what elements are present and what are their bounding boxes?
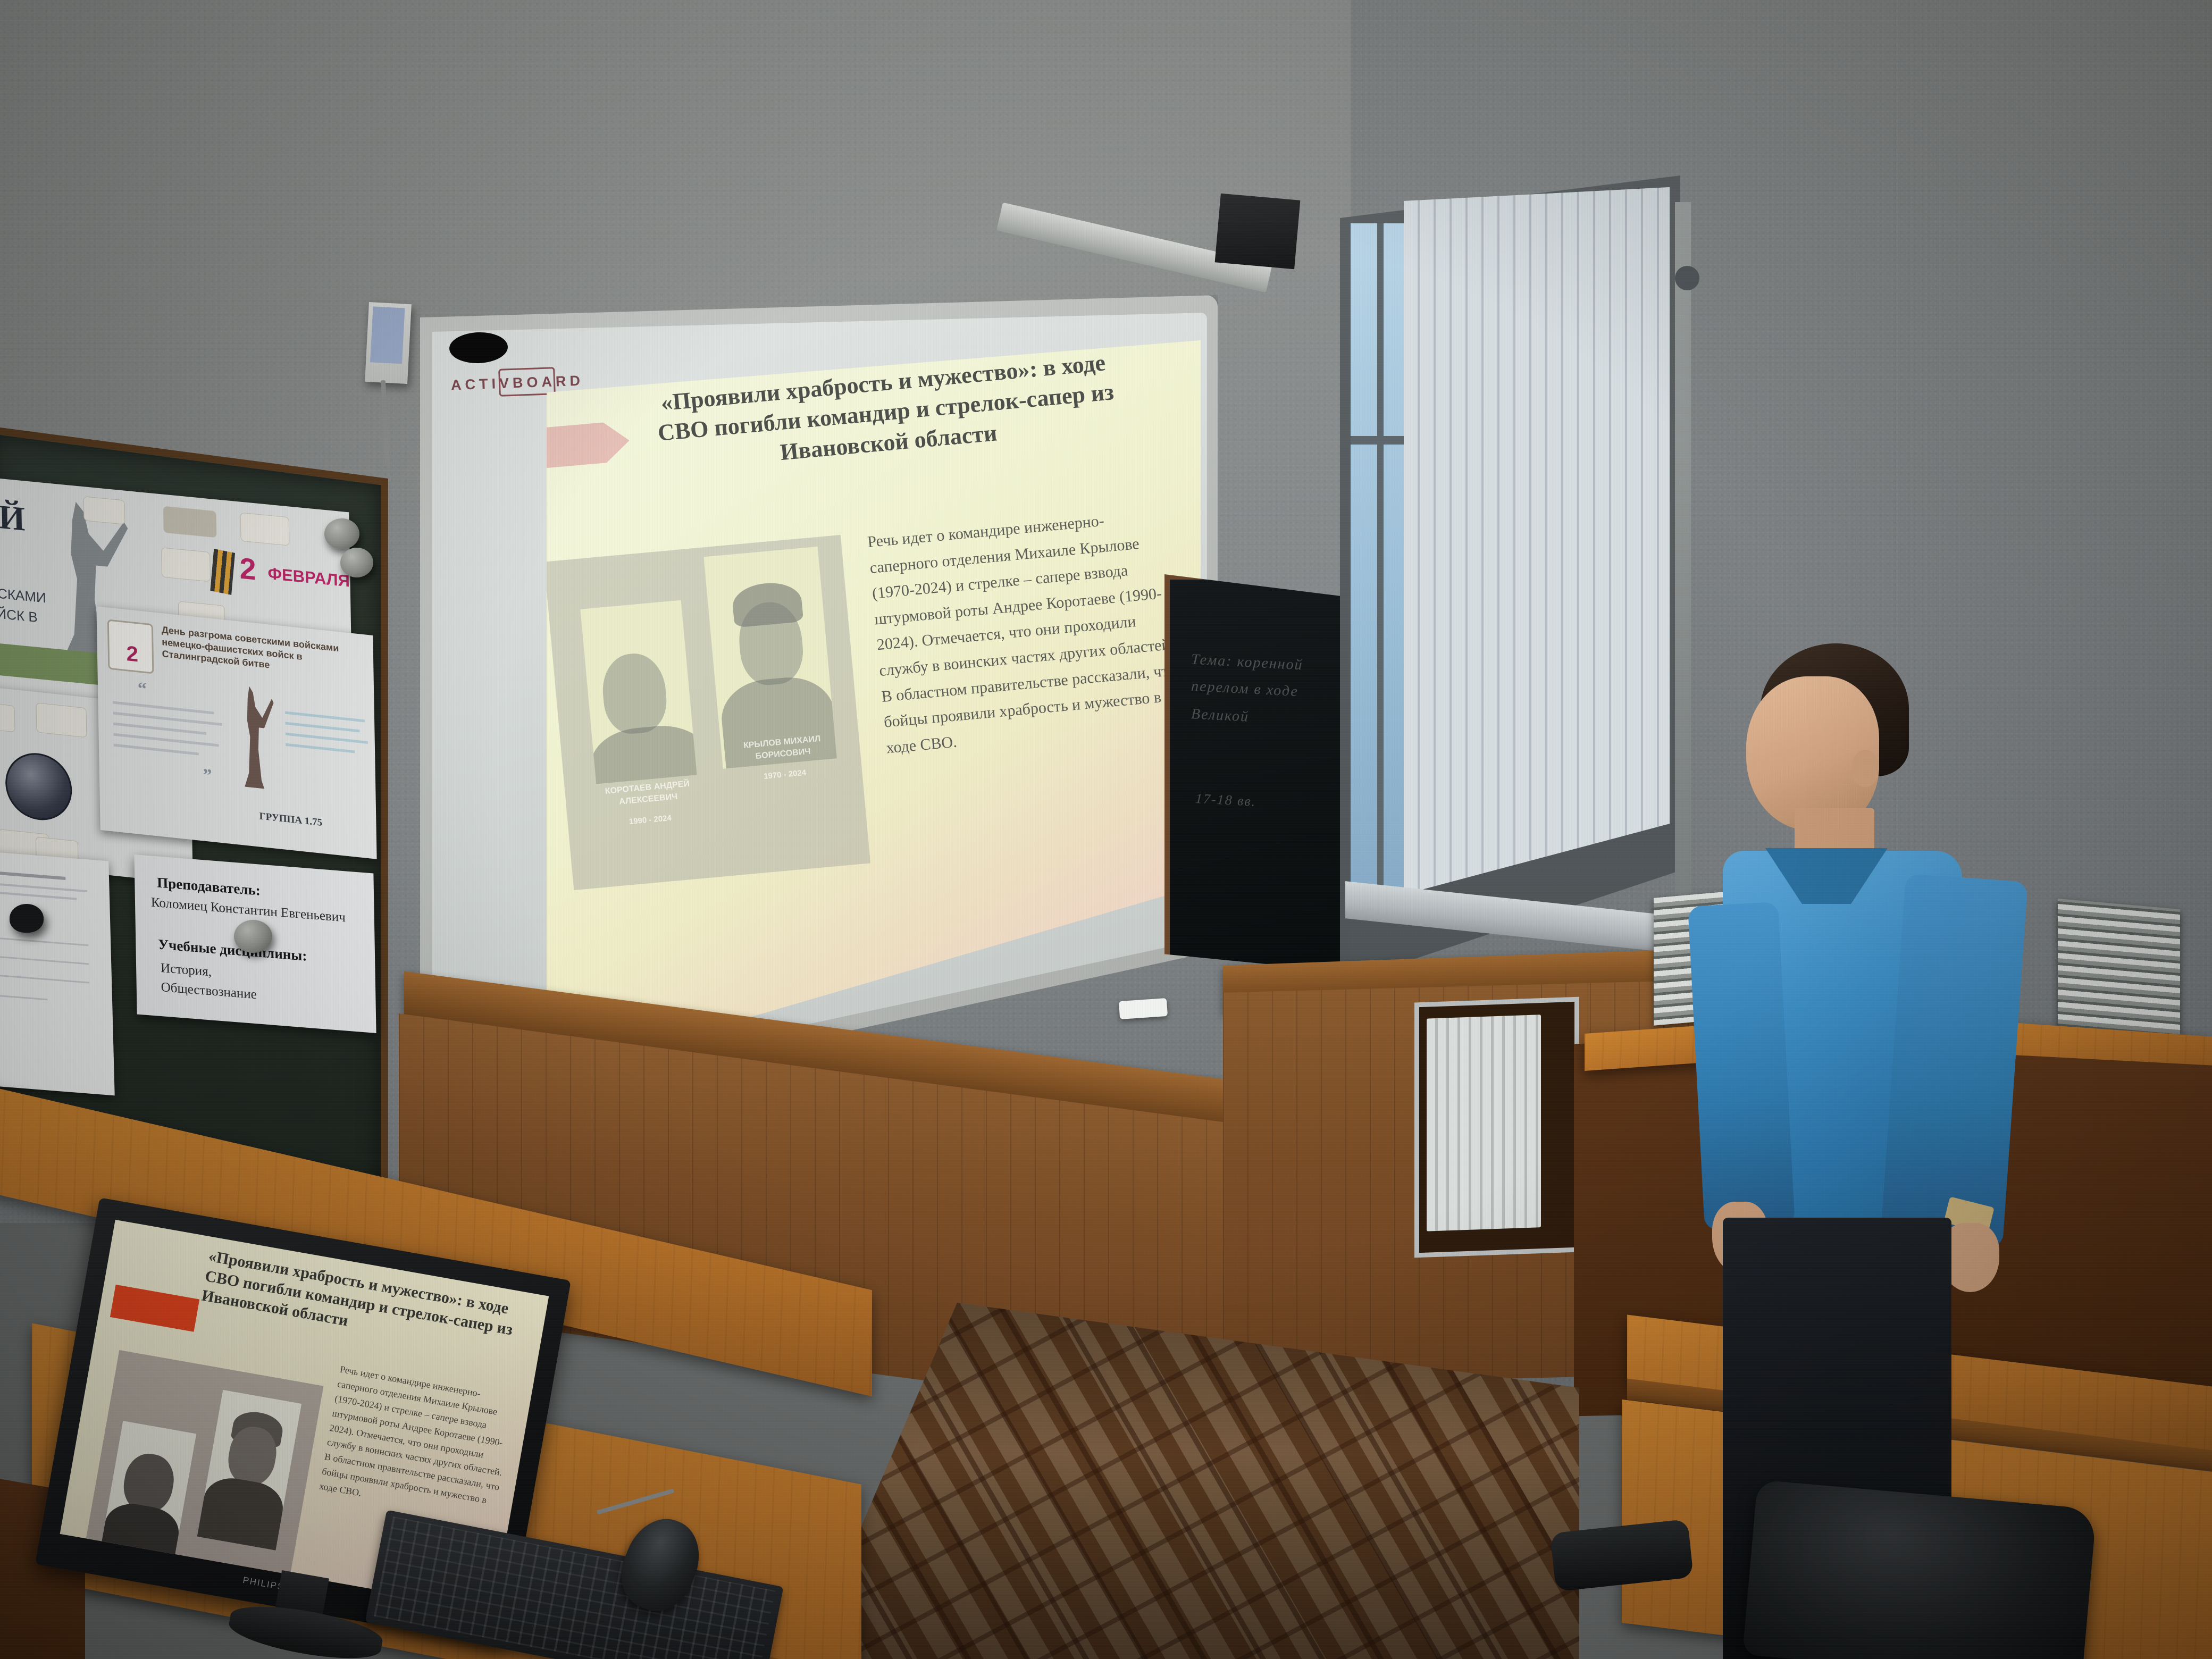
whiteboard-marker[interactable] [1119, 998, 1168, 1019]
quote-close: ” [203, 765, 212, 786]
ear [1851, 750, 1879, 787]
magnet-icon[interactable] [10, 904, 44, 933]
monitor-portrait-2 [197, 1390, 301, 1551]
slide-body-text: Речь идет о командире инженерно-саперног… [866, 503, 1184, 761]
magnet-icon[interactable] [340, 548, 373, 577]
window-mullion [1377, 223, 1384, 909]
poster-sticker [240, 513, 290, 546]
poster-sticker [36, 702, 87, 738]
poster-stalingrad-title: День разгрома советскими войсками немецк… [162, 624, 367, 681]
saint-george-ribbon-icon [210, 549, 235, 595]
portrait-years-korotaev: 1990 - 2024 [584, 809, 717, 832]
poster-subline: ВОЙСК В [0, 603, 38, 626]
sleeve-right [1880, 874, 2028, 1248]
monitor-slide-body: Речь идет о командире инженерно-саперног… [318, 1362, 522, 1526]
subject-history: История, [161, 961, 212, 980]
magnet-icon[interactable] [234, 920, 272, 953]
classroom-photo: ОЙ ОЙСКАМИ ВОЙСК В 2 ФЕВРАЛЯ 2 День разг… [0, 0, 2212, 1659]
paper-sheet [0, 851, 115, 1096]
teacher-label: Преподаватель: [157, 874, 261, 899]
chalk-line: перелом в ходе [1191, 678, 1298, 701]
slide-arrow-decoration [547, 422, 607, 468]
poster-sticker [161, 547, 211, 582]
poster-sticker [163, 506, 217, 538]
monitor-photo-panel [86, 1350, 324, 1574]
group-label: ГРУППА 1.75 [259, 810, 322, 829]
quote-open: “ [138, 678, 147, 700]
subjects-label: Учебные дисциплины: [158, 936, 307, 965]
sleeve-left [1688, 902, 1795, 1230]
radiator-recess [1414, 997, 1579, 1258]
activboard-bracket-icon [498, 367, 556, 397]
calendar-number: 2 [109, 640, 155, 669]
motherland-statue-icon [230, 684, 276, 790]
poster-subline: ОЙСКАМИ [0, 583, 46, 607]
person-standing [1680, 627, 2063, 1616]
backpack[interactable] [1742, 1480, 2097, 1659]
poster-stalingrad-day: 2 День разгрома советскими войсками неме… [96, 606, 376, 859]
ceiling-speaker [1215, 194, 1301, 270]
poster-date-number: 2 [239, 550, 256, 586]
vertical-blinds[interactable] [1404, 187, 1670, 894]
portrait-photo-korotaev [580, 600, 697, 784]
subject-social-studies: Обществознание [161, 980, 257, 1002]
magnet-icon[interactable] [324, 518, 359, 549]
poster-sticker [0, 700, 15, 733]
calendar-icon: 2 [107, 619, 154, 674]
chalk-line: 17-18 вв. [1195, 791, 1256, 810]
slide-photo-panel: КОРОТАЕВ АНДРЕЙ АЛЕКСЕЕВИЧ 1990 - 2024 К… [547, 535, 870, 890]
poster-date-month: ФЕВРАЛЯ [267, 564, 350, 591]
stalingrad-medal-icon [5, 750, 72, 823]
device-sticker-icon [370, 306, 405, 364]
monitor-slide-arrow [110, 1285, 199, 1332]
monitor-slide-title: «Проявили храбрость и мужество»: в ходе … [200, 1246, 524, 1361]
chalk-line: Тема: коренной [1191, 651, 1303, 674]
monitor-portrait-1 [102, 1421, 196, 1554]
wall-control-device[interactable] [365, 302, 412, 384]
book-stack [2058, 899, 2180, 1042]
poster-sticker [83, 496, 125, 525]
chalk-line: Великой [1191, 706, 1250, 726]
poster-heading: ОЙ [0, 495, 26, 539]
security-camera-icon [1675, 266, 1699, 290]
radiator [1427, 1015, 1541, 1231]
